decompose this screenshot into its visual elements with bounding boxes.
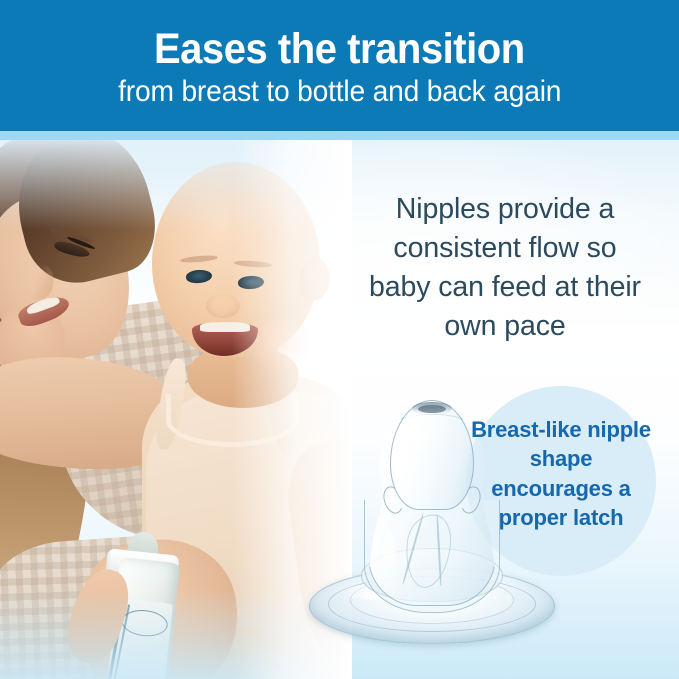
- nipple-teat: [390, 400, 474, 510]
- headline: Eases the transition: [154, 27, 525, 72]
- nipple-tip-hole: [418, 405, 446, 413]
- body-copy-text: Nipples provide a consistent flow so bab…: [360, 190, 650, 346]
- header-banner: Eases the transition from breast to bott…: [0, 0, 679, 131]
- lifestyle-photo: [0, 140, 352, 679]
- accent-strip: [0, 131, 679, 140]
- photo-artwork: [0, 140, 352, 679]
- callout-text: Breast-like nipple shape encourages a pr…: [470, 415, 652, 532]
- subheadline: from breast to bottle and back again: [118, 75, 561, 110]
- advertisement-canvas: Breast-like nipple shape encourages a pr…: [0, 0, 679, 679]
- nipple-highlight-side: [382, 532, 396, 588]
